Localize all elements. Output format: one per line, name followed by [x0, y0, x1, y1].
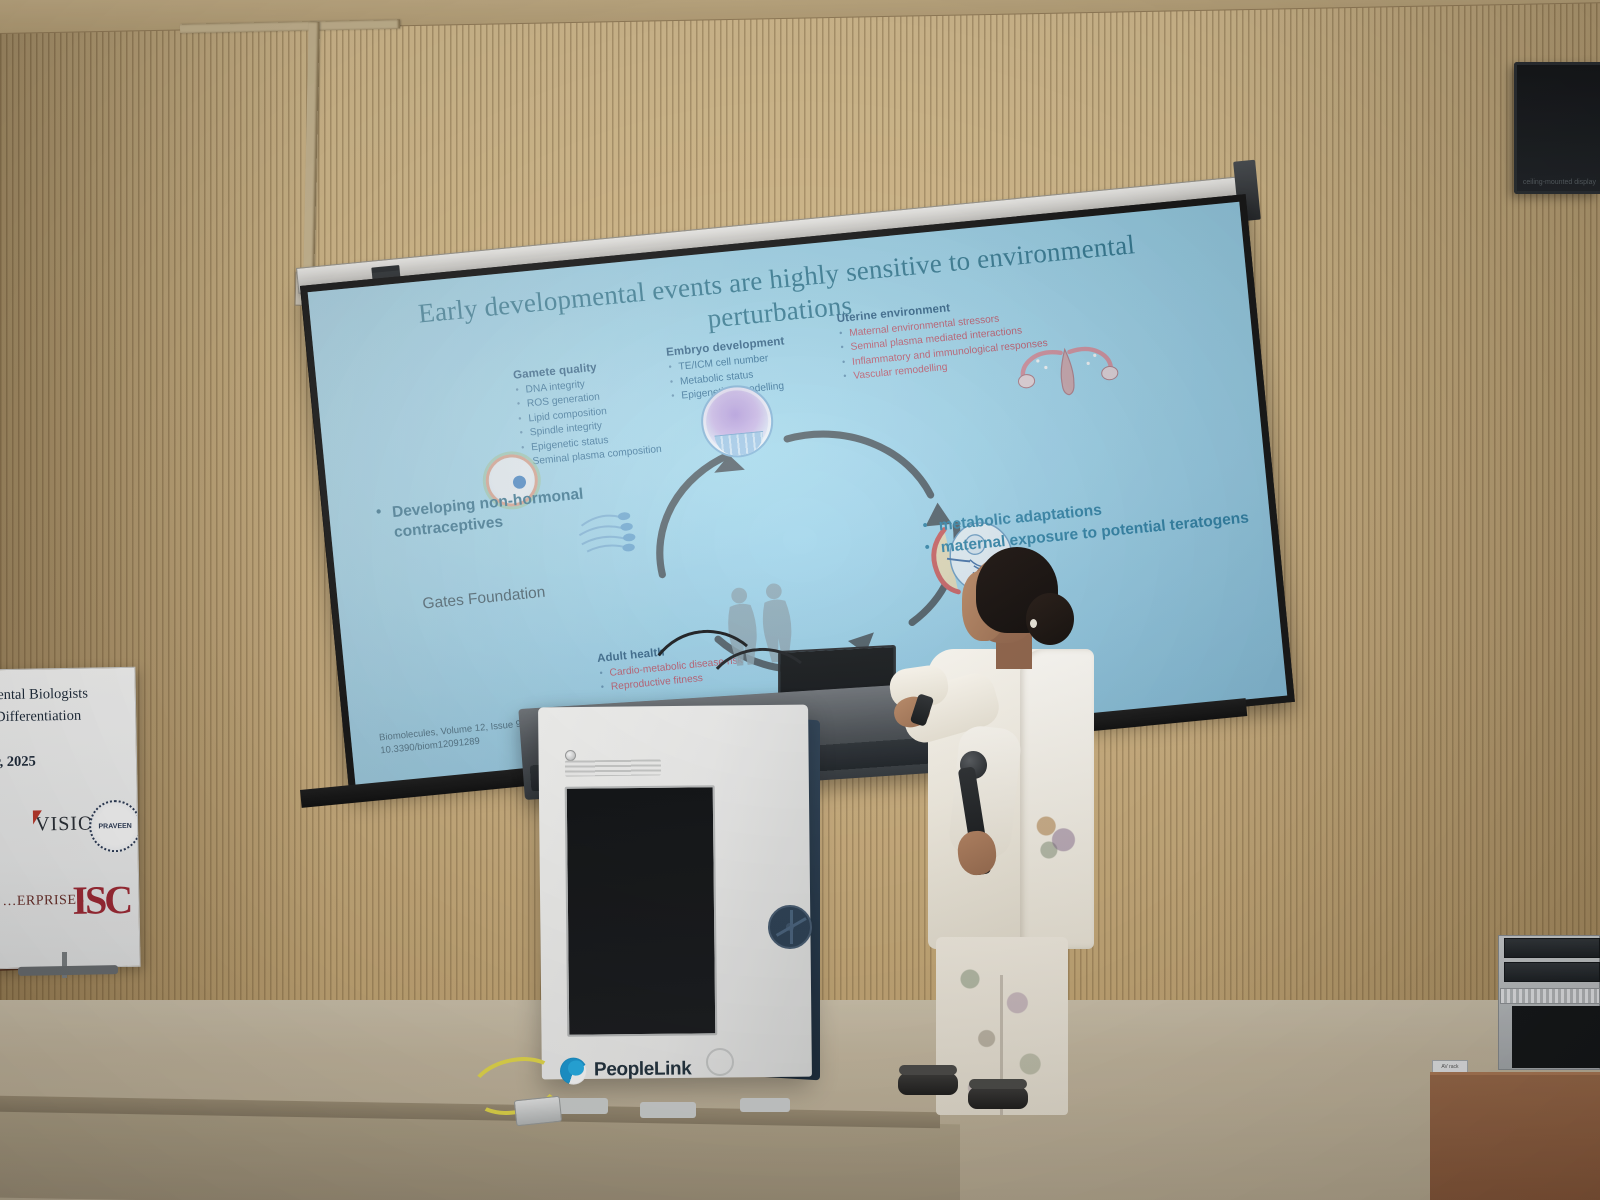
av-device-bottom	[1504, 962, 1600, 982]
speaker-floral-print	[1030, 805, 1084, 865]
inner-cell-mass	[714, 431, 765, 457]
overlay-funder: Gates Foundation	[422, 583, 547, 615]
speaker-sandal-strap-left	[899, 1065, 957, 1075]
peoplelink-swoosh-icon	[560, 1057, 587, 1084]
speaker-dupatta	[1020, 649, 1094, 949]
speaker	[880, 545, 1090, 1105]
sponsor-logos: VISION PRAVEEN …ERPRISES ISC	[7, 796, 141, 958]
lecture-hall-photo: ceiling-mounted display Early developmen…	[0, 0, 1600, 1200]
podium-indicator-light	[565, 750, 576, 761]
speaker-sandal-right	[968, 1087, 1028, 1109]
wall-monitor-label: ceiling-mounted display	[1523, 179, 1596, 186]
podium-touchscreen[interactable]	[565, 785, 718, 1037]
podium-foot-right	[740, 1098, 790, 1112]
banner-stand-base	[18, 965, 118, 976]
wall-monitor: ceiling-mounted display	[1514, 62, 1600, 194]
podium-brand-name: PeopleLink	[594, 1058, 692, 1081]
banner-text-block: …evelopmental Biologists …ciety of Diffe…	[0, 682, 134, 775]
block-gamete-quality: Gamete quality DNA integrity ROS generat…	[513, 356, 663, 471]
podium-vent-grille	[565, 759, 661, 776]
uterus-illustration	[1003, 328, 1129, 405]
podium-fan-vent	[768, 905, 812, 949]
speaker-sandal-strap-right	[969, 1079, 1027, 1089]
slide-citation: Biomolecules, Volume 12, Issue 9, 10.339…	[379, 717, 526, 758]
banner-line-date: …ecember, 2025	[0, 749, 134, 775]
speaker-earring	[1030, 619, 1037, 628]
speaker-sandal-left	[898, 1073, 958, 1095]
podium-foot-mid	[640, 1102, 696, 1118]
podium-round-handle[interactable]	[706, 1048, 734, 1076]
podium-brand-logo: PeopleLink	[560, 1051, 700, 1088]
power-adapter	[514, 1096, 562, 1127]
sponsor-praveen-seal-icon: PRAVEEN	[89, 800, 141, 853]
av-rack-cabling	[1512, 1006, 1600, 1068]
block-list: DNA integrity ROS generation Lipid compo…	[514, 371, 662, 471]
av-rack-vent	[1500, 988, 1600, 1004]
sponsor-isc-logo: ISC	[72, 876, 131, 924]
event-banner: …evelopmental Biologists …ciety of Diffe…	[0, 667, 141, 970]
side-table	[1430, 1072, 1600, 1200]
av-device-top	[1504, 938, 1600, 958]
